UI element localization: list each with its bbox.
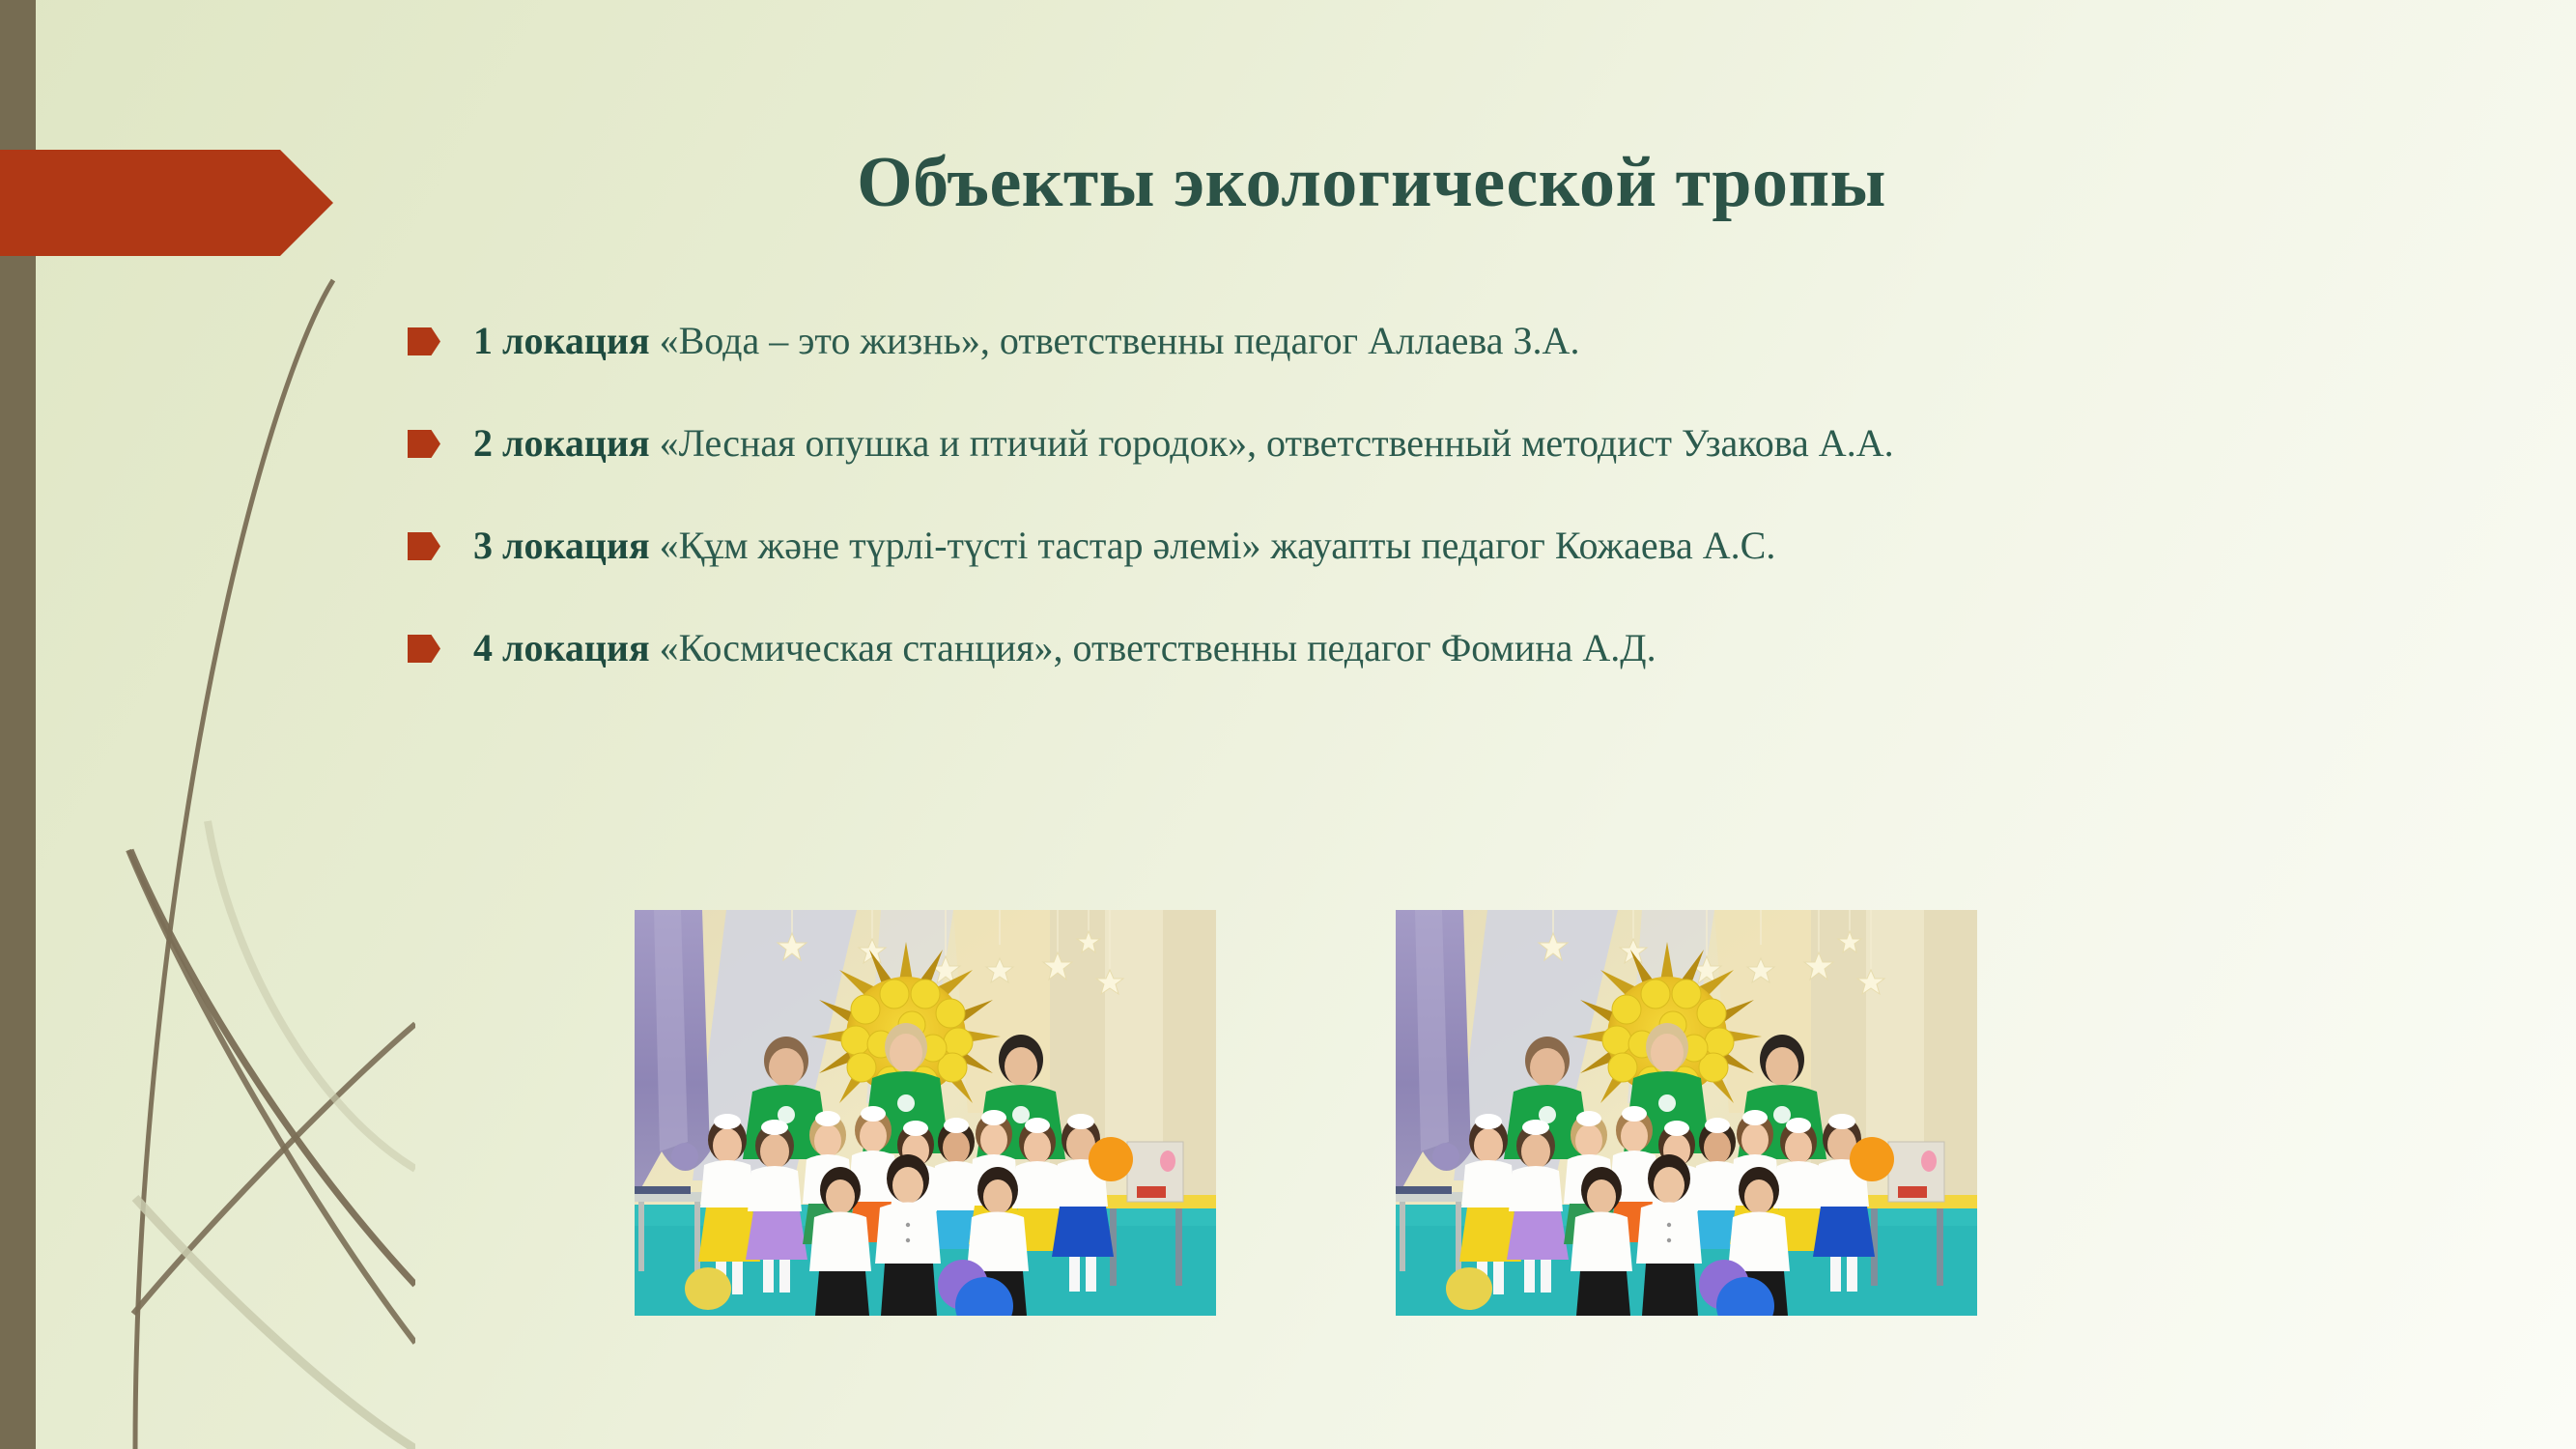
red-arrow-banner — [0, 150, 333, 256]
pentagon-arrow-bullet-icon — [408, 635, 440, 663]
page-title: Объекты экологической тропы — [541, 145, 2202, 222]
bullet-list: 1 локация «Вода – это жизнь», ответствен… — [404, 314, 2461, 675]
list-item-location-4: 4 локация «Космическая станция», ответст… — [404, 621, 2461, 675]
bullet-lead-1: 1 локация — [473, 319, 650, 362]
list-item-location-2: 2 локация «Лесная опушка и птичий городо… — [404, 416, 2461, 470]
presentation-slide: Объекты экологической тропы 1 локация «В… — [0, 0, 2576, 1449]
bullet-text-2: «Лесная опушка и птичий городок», ответс… — [650, 421, 1894, 465]
pentagon-arrow-bullet-icon — [408, 327, 440, 355]
group-photo-right — [1396, 910, 1977, 1316]
group-photo-left — [635, 910, 1216, 1316]
bullet-lead-4: 4 локация — [473, 626, 650, 669]
bullet-lead-2: 2 локация — [473, 421, 650, 465]
bullet-text-1: «Вода – это жизнь», ответственны педагог… — [650, 319, 1580, 362]
list-item-location-1: 1 локация «Вода – это жизнь», ответствен… — [404, 314, 2461, 368]
list-item-location-3: 3 локация «Құм және түрлі-түсті тастар ә… — [404, 519, 2461, 573]
bullet-lead-3: 3 локация — [473, 524, 650, 567]
pentagon-arrow-bullet-icon — [408, 430, 440, 458]
bullet-text-4: «Космическая станция», ответственны педа… — [650, 626, 1656, 669]
bullet-text-3: «Құм және түрлі-түсті тастар әлемі» жауа… — [650, 524, 1776, 567]
pentagon-arrow-bullet-icon — [408, 532, 440, 560]
